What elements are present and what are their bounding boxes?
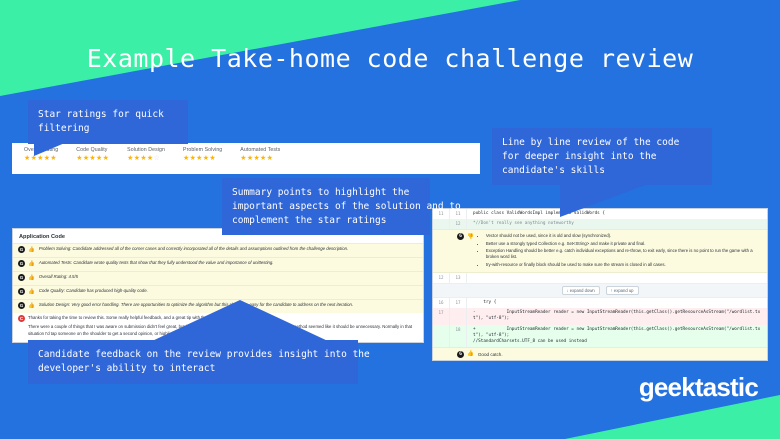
summary-text: Problem Solving: Candidate addressed all… (39, 246, 348, 252)
review-bullet: Exception Handling should be better e.g.… (486, 248, 762, 261)
callout-line: for deeper insight into the (502, 150, 702, 164)
summary-row: G 👍 Overall Rating: 4.5/5 (13, 271, 423, 285)
callout-line-by-line-review: Line by line review of the code for deep… (492, 128, 712, 185)
page-title: Example Take-home code challenge review (0, 44, 780, 73)
code-line[interactable]: - InputStreamReader reader = new InputSt… (467, 308, 767, 324)
code-row-added: 18 + InputStreamReader reader = new Inpu… (433, 325, 767, 348)
review-bullet: Vector should not be used, since it is o… (486, 233, 762, 240)
inline-review-comment: G 👎 Vector should not be used, since it … (433, 229, 767, 272)
line-number-old (433, 219, 450, 229)
line-number-new: 12 (450, 219, 467, 229)
candidate-avatar: C (18, 315, 25, 322)
thumbs-up-icon: 👍 (467, 350, 474, 358)
code-row-deleted: 17 - InputStreamReader reader = new Inpu… (433, 308, 767, 324)
reviewer-avatar: G (18, 246, 25, 253)
code-review-panel: 11 11 public class ValidWordsImpl implem… (432, 208, 768, 361)
callout-line: filtering (38, 122, 178, 136)
rating-automated-tests: Automated Tests ★★★★★ (240, 147, 280, 162)
summary-text: Overall Rating: 4.5/5 (39, 274, 78, 280)
reviewer-avatar: G (18, 288, 25, 295)
callout-line: important aspects of the solution and to (232, 200, 420, 214)
line-number-new: 17 (450, 298, 467, 308)
callout-line: complement the star ratings (232, 214, 420, 228)
callout-line: Line by line review of the code (502, 136, 702, 150)
rating-problem-solving: Problem Solving ★★★★★ (183, 147, 222, 162)
callout-line: Candidate feedback on the review provide… (38, 348, 348, 362)
expand-down-button[interactable]: ↓ expand down (562, 286, 600, 295)
line-number-new (450, 308, 467, 324)
slide-canvas: Example Take-home code challenge review … (0, 0, 780, 439)
thumbs-up-icon: 👍 (28, 246, 35, 254)
reviewer-avatar: G (18, 274, 25, 281)
review-bullet-list: Vector should not be used, since it is o… (478, 233, 762, 268)
callout-star-ratings: Star ratings for quick filtering (28, 100, 188, 144)
reviewer-avatar: G (18, 302, 25, 309)
thumbs-up-icon: 👍 (28, 274, 35, 282)
callout-line: developer's ability to interact (38, 362, 348, 376)
rating-stars[interactable]: ★★★★★ (183, 155, 222, 162)
rating-stars[interactable]: ★★★★☆ (127, 155, 165, 162)
reviewer-avatar: G (457, 233, 464, 240)
line-number-old: 17 (433, 308, 450, 324)
line-number-new: 18 (450, 325, 467, 348)
callout-line: Summary points to highlight the (232, 186, 420, 200)
callout-line: Star ratings for quick (38, 108, 178, 122)
rating-stars[interactable]: ★★★★★ (240, 155, 280, 162)
rating-label: Problem Solving (183, 147, 222, 153)
thumbs-up-icon: 👍 (28, 288, 35, 296)
summary-text: Code Quality: Candidate has produced hig… (39, 288, 148, 294)
expand-controls: ↓ expand down ↑ expand up (433, 283, 767, 298)
summary-text: Automated Tests: Candidate wrote quality… (39, 260, 274, 266)
line-number-old: 16 (433, 298, 450, 308)
summary-row: G 👍 Code Quality: Candidate has produced… (13, 285, 423, 299)
review-bullet: Better use a strongly typed Collection e… (486, 241, 762, 248)
comment-text: Good catch. (478, 352, 503, 357)
callout-candidate-feedback: Candidate feedback on the review provide… (28, 340, 358, 384)
rating-solution-design: Solution Design ★★★★☆ (127, 147, 165, 162)
code-row: 12 *//Don't really see anything notewort… (433, 219, 767, 229)
callout-summary-points: Summary points to highlight the importan… (222, 178, 430, 235)
callout-line: candidate's skills (502, 164, 702, 178)
reviewer-avatar: G (18, 260, 25, 267)
summary-row: G 👍 Problem Solving: Candidate addressed… (13, 243, 423, 257)
line-number-old (433, 325, 450, 348)
thumbs-up-icon: 👍 (28, 260, 35, 268)
callout-pointer-feedback (150, 300, 330, 342)
brand-logo: geektastic (639, 372, 758, 403)
code-line[interactable] (467, 273, 767, 283)
expand-up-button[interactable]: ↑ expand up (606, 286, 639, 295)
code-row-blank: 12 13 (433, 273, 767, 283)
good-catch-comment: G 👍 Good catch. (433, 347, 767, 360)
rating-stars[interactable]: ★★★★★ (24, 155, 58, 162)
thumbs-up-icon: 👍 (28, 302, 35, 310)
reviewer-avatar: G (457, 351, 464, 358)
code-line[interactable]: *//Don't really see anything noteworthy (467, 219, 767, 229)
rating-stars[interactable]: ★★★★★ (76, 155, 109, 162)
thumbs-down-icon: 👎 (467, 233, 474, 241)
rating-label: Solution Design (127, 147, 165, 153)
code-line[interactable]: try { (467, 298, 767, 308)
code-line[interactable]: + InputStreamReader reader = new InputSt… (467, 325, 767, 348)
line-number-old: 12 (433, 273, 450, 283)
line-number-new: 13 (450, 273, 467, 283)
summary-row: G 👍 Automated Tests: Candidate wrote qua… (13, 257, 423, 271)
code-row: 16 17 try { (433, 298, 767, 308)
rating-label: Automated Tests (240, 147, 280, 153)
review-bullet: try-with-resource or finally block shoul… (486, 262, 762, 269)
